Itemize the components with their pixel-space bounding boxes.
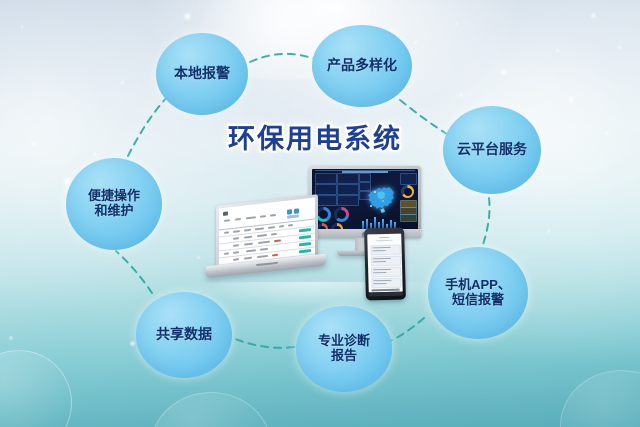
node-product-diversity[interactable]: 产品多样化	[312, 25, 412, 107]
china-map-graphic	[364, 181, 398, 215]
node-shared-data[interactable]: 共享数据	[136, 292, 232, 378]
node-label: 专业诊断 报告	[318, 334, 370, 364]
page-title: 环保用电系统	[228, 117, 402, 156]
node-local-alarm[interactable]: 本地报警	[156, 33, 248, 115]
node-label: 共享数据	[156, 327, 212, 343]
node-label: 产品多样化	[327, 58, 397, 74]
node-label: 手机APP、 短信报警	[445, 278, 511, 308]
phone-home-bar	[369, 292, 403, 297]
poster-canvas: 环保用电系统 本地报警产品多样化云平台服务手机APP、 短信报警专业诊断 报告共…	[0, 0, 640, 427]
node-easy-operation[interactable]: 便捷操作 和维护	[66, 158, 162, 250]
node-label: 云平台服务	[457, 142, 527, 158]
node-label: 本地报警	[174, 66, 230, 82]
node-cloud-platform[interactable]: 云平台服务	[443, 106, 541, 194]
node-mobile-app-sms[interactable]: 手机APP、 短信报警	[428, 247, 528, 339]
laptop-computer	[206, 200, 326, 285]
phone-body	[364, 227, 406, 300]
smartphone	[365, 228, 405, 300]
node-diagnostic-report[interactable]: 专业诊断 报告	[296, 306, 392, 392]
monitor-screen	[312, 169, 418, 231]
node-label: 便捷操作 和维护	[88, 189, 140, 219]
phone-screen	[367, 234, 403, 293]
